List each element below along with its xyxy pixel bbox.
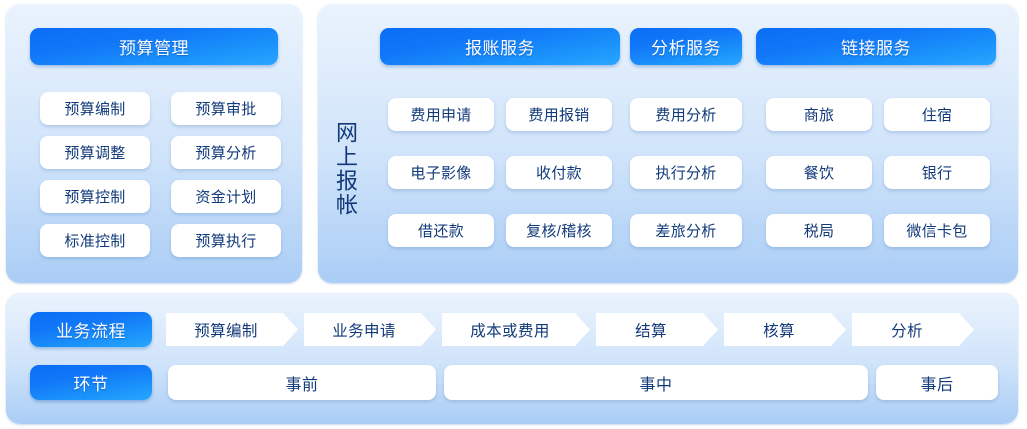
- budget-item-6[interactable]: 标准控制: [40, 224, 150, 257]
- panel-budget-management: 预算管理 预算编制 预算审批 预算调整 预算分析 预算控制 资金计划 标准控制 …: [6, 4, 302, 283]
- flow-step-5[interactable]: 分析: [852, 313, 974, 346]
- link-item-5[interactable]: 微信卡包: [884, 214, 990, 247]
- panel-budget-header[interactable]: 预算管理: [30, 28, 278, 65]
- expense-item-1[interactable]: 费用报销: [506, 98, 612, 131]
- flow-stage-1[interactable]: 事中: [444, 365, 868, 400]
- link-item-3[interactable]: 银行: [884, 156, 990, 189]
- group-header-link-service[interactable]: 链接服务: [756, 28, 996, 65]
- expense-item-0[interactable]: 费用申请: [388, 98, 494, 131]
- flow-process-label[interactable]: 业务流程: [30, 312, 152, 347]
- flow-step-3[interactable]: 结算: [596, 313, 718, 346]
- flow-step-0[interactable]: 预算编制: [166, 313, 298, 346]
- link-item-0[interactable]: 商旅: [766, 98, 872, 131]
- link-item-2[interactable]: 餐饮: [766, 156, 872, 189]
- panel-online-reimbursement: 网上报帐 报账服务 费用申请 费用报销 电子影像 收付款 借还款 复核/稽核 分…: [318, 4, 1018, 283]
- group-header-analysis-service[interactable]: 分析服务: [630, 28, 742, 65]
- budget-item-0[interactable]: 预算编制: [40, 92, 150, 125]
- budget-item-3[interactable]: 预算分析: [171, 136, 281, 169]
- expense-item-3[interactable]: 收付款: [506, 156, 612, 189]
- budget-item-2[interactable]: 预算调整: [40, 136, 150, 169]
- flow-step-2[interactable]: 成本或费用: [442, 313, 590, 346]
- analysis-item-2[interactable]: 差旅分析: [630, 214, 742, 247]
- analysis-item-1[interactable]: 执行分析: [630, 156, 742, 189]
- expense-item-5[interactable]: 复核/稽核: [506, 214, 612, 247]
- panel-business-flow: 业务流程 预算编制 业务申请 成本或费用 结算 核算 分析 环节 事前 事中 事…: [6, 293, 1018, 424]
- budget-item-7[interactable]: 预算执行: [171, 224, 281, 257]
- flow-stage-label[interactable]: 环节: [30, 365, 152, 400]
- flow-step-1[interactable]: 业务申请: [304, 313, 436, 346]
- budget-item-5[interactable]: 资金计划: [171, 180, 281, 213]
- analysis-item-0[interactable]: 费用分析: [630, 98, 742, 131]
- budget-item-1[interactable]: 预算审批: [171, 92, 281, 125]
- flow-step-4[interactable]: 核算: [724, 313, 846, 346]
- expense-item-4[interactable]: 借还款: [388, 214, 494, 247]
- flow-stage-0[interactable]: 事前: [168, 365, 436, 400]
- diagram-root: 预算管理 预算编制 预算审批 预算调整 预算分析 预算控制 资金计划 标准控制 …: [0, 0, 1027, 429]
- online-side-label: 网上报帐: [328, 74, 362, 264]
- budget-item-4[interactable]: 预算控制: [40, 180, 150, 213]
- group-header-expense-service[interactable]: 报账服务: [380, 28, 620, 65]
- link-item-4[interactable]: 税局: [766, 214, 872, 247]
- expense-item-2[interactable]: 电子影像: [388, 156, 494, 189]
- flow-stage-2[interactable]: 事后: [876, 365, 998, 400]
- link-item-1[interactable]: 住宿: [884, 98, 990, 131]
